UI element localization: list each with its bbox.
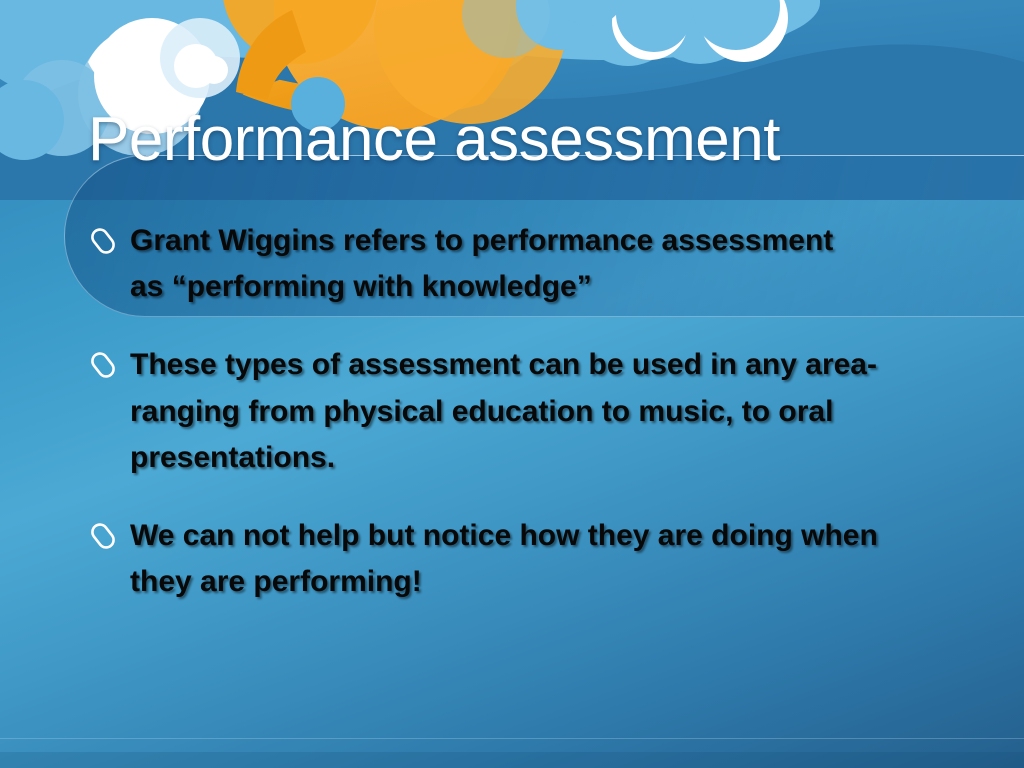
- cloud-dot-small: [200, 56, 228, 84]
- list-item: These types of assessment can be used in…: [88, 342, 968, 481]
- list-item-text: These types of assessment can be used in…: [130, 342, 930, 481]
- list-item-text: Grant Wiggins refers to performance asse…: [130, 218, 860, 310]
- slide-body: Grant Wiggins refers to performance asse…: [88, 218, 968, 637]
- list-item: We can not help but notice how they are …: [88, 513, 968, 605]
- slashed-oval-bullet-icon: [88, 218, 130, 256]
- page-title: Performance assessment: [88, 104, 780, 175]
- presentation-slide: Performance assessment Grant Wiggins ref…: [0, 0, 1024, 768]
- list-item: Grant Wiggins refers to performance asse…: [88, 218, 968, 310]
- slashed-oval-bullet-icon: [88, 513, 130, 551]
- slashed-oval-bullet-icon: [88, 342, 130, 380]
- footer-band: [0, 752, 1024, 768]
- list-item-text: We can not help but notice how they are …: [130, 513, 920, 605]
- footer-rule: [0, 738, 1024, 739]
